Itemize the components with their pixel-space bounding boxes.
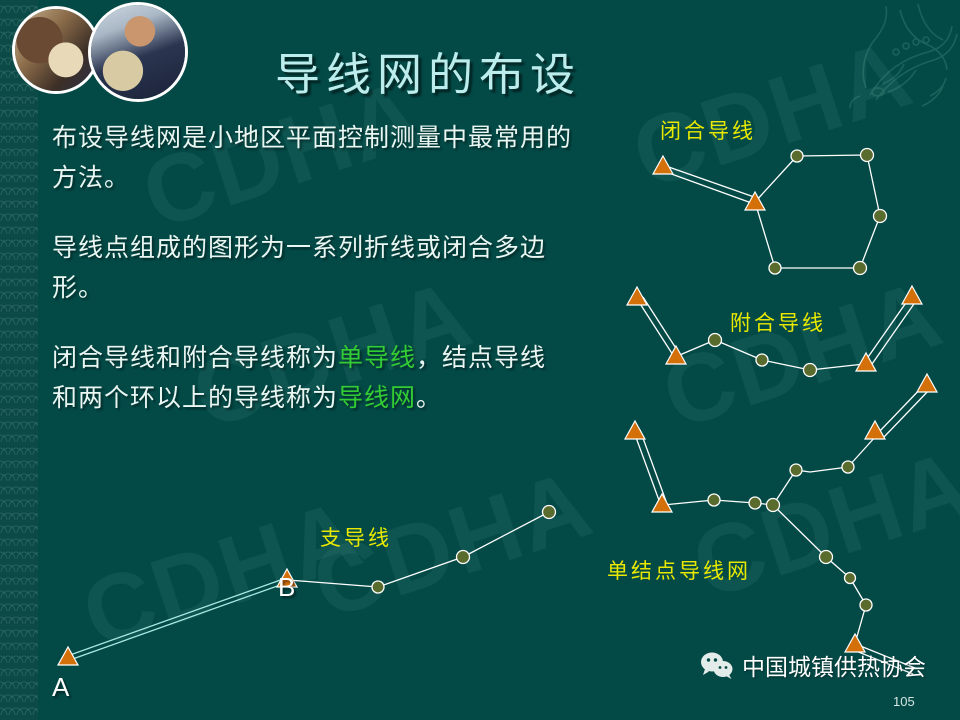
point-label-b: B [278,572,295,603]
traverse-diagrams [0,0,960,720]
diagram-label-branch-traverse: 支导线 [320,522,392,552]
point-label-a: A [52,672,69,703]
diagram-label-junction-network: 单结点导线网 [607,555,751,585]
wechat-icon [700,651,734,679]
slide-canvas: CDHA CDHA CDHA CDHA CDHA CDHA CDHA 导线网的布… [0,0,960,720]
diagram-label-connecting-traverse: 附合导线 [730,307,826,337]
page-number: 105 [893,694,915,709]
footer-organization-name: 中国城镇供热协会 [742,648,926,682]
diagram-label-closed-traverse: 闭合导线 [660,115,756,145]
footer-branding: 中国城镇供热协会 [700,648,926,682]
